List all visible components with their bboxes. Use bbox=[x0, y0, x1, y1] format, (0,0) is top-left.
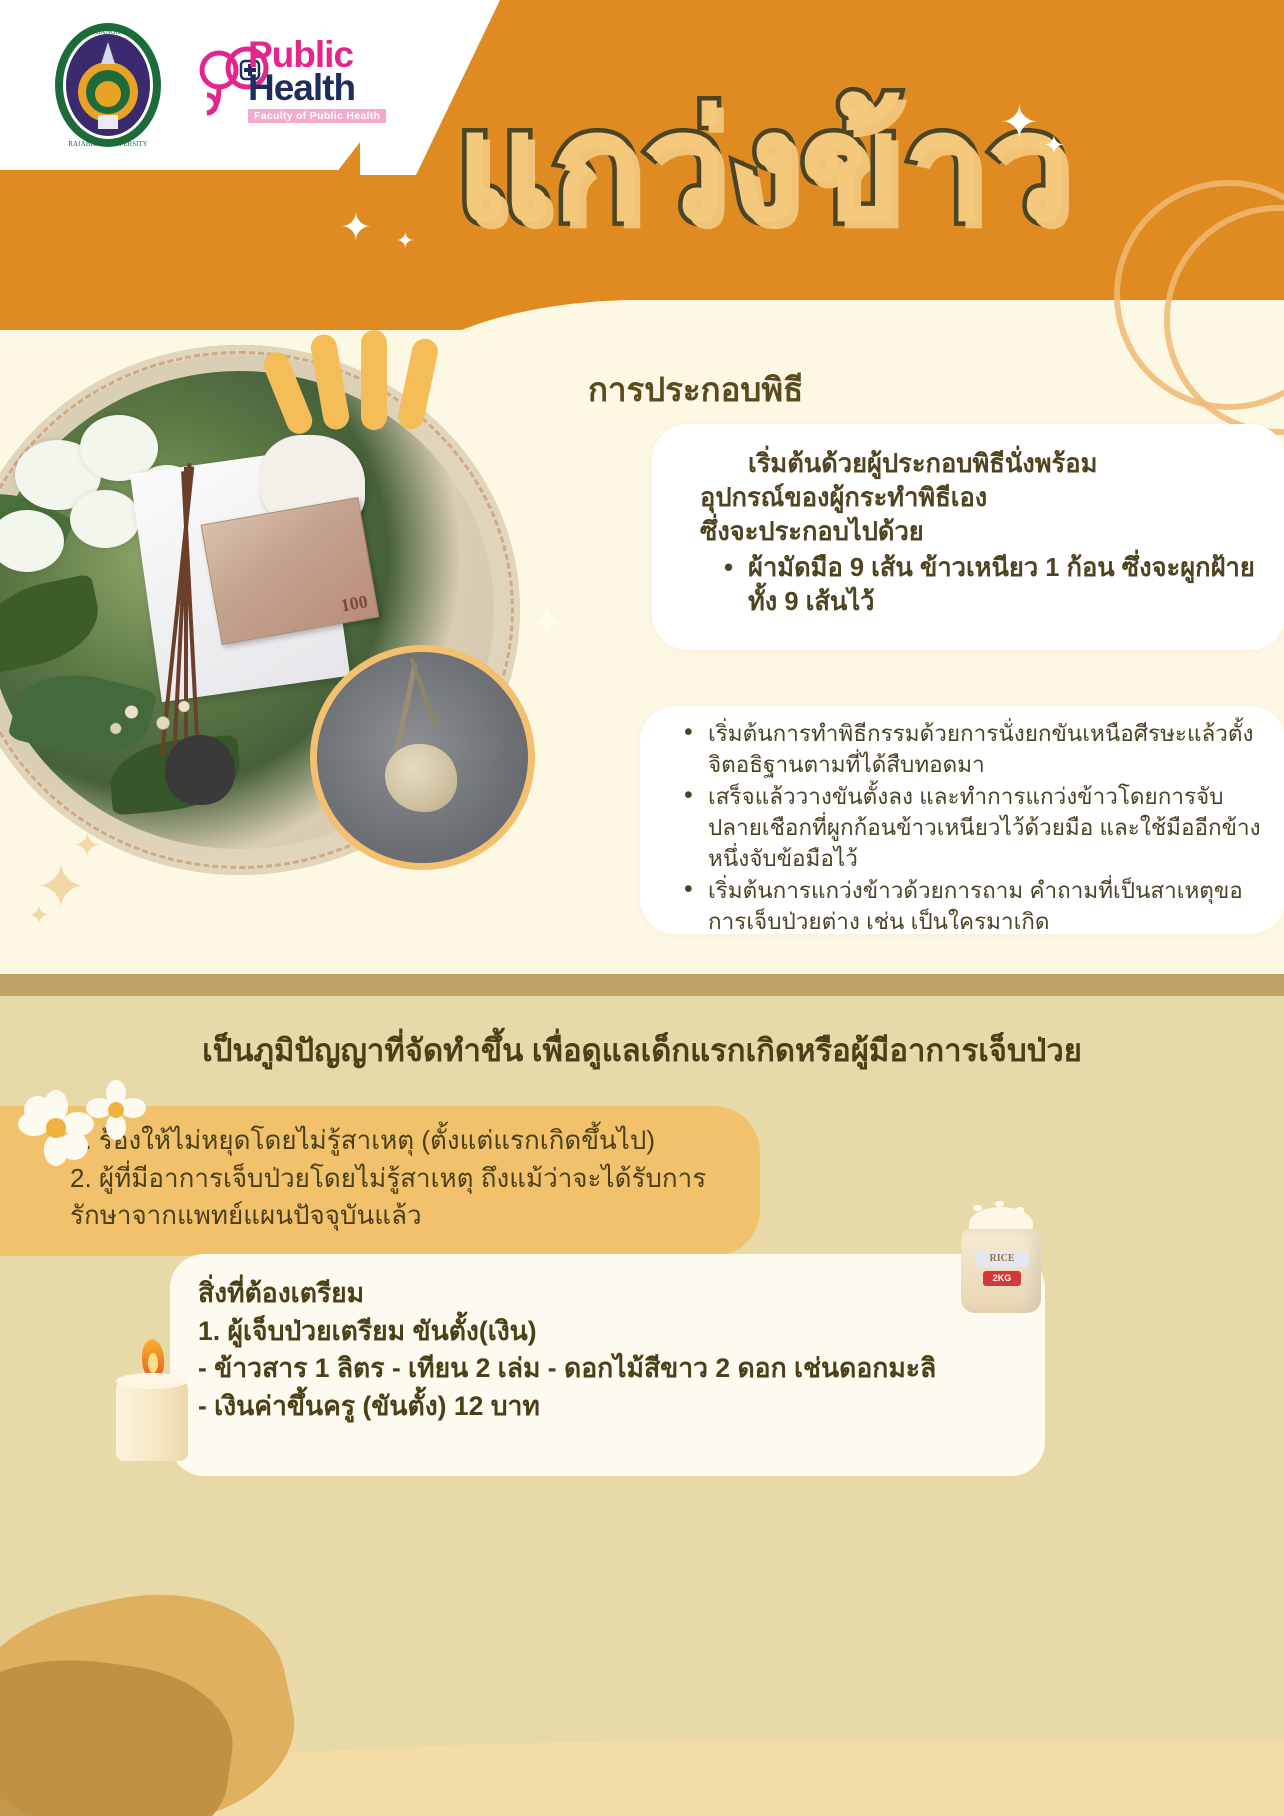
purpose-text: 1. ร้องให้ไม่หยุดโดยไม่รู้สาเหตุ (ตั้งแต… bbox=[70, 1122, 760, 1235]
university-seal-icon: CHIANGRAI RAJABHAT UNIVERSITY bbox=[52, 20, 164, 150]
purpose-item-1: 1. ร้องให้ไม่หยุดโดยไม่รู้สาเหตุ (ตั้งแต… bbox=[70, 1122, 760, 1160]
yellow-burst-decor bbox=[265, 310, 455, 450]
sparkle-icon: ✦ bbox=[340, 205, 372, 250]
list-item: ผ้ามัดมือ 9 เส้น ข้าวเหนียว 1 ก้อน ซึ่งจ… bbox=[700, 552, 1280, 620]
rice-sack-label: RICE bbox=[975, 1251, 1029, 1267]
page-title: แกว่งข้าว bbox=[455, 92, 1071, 242]
section-divider-band bbox=[0, 974, 1284, 996]
public-health-tagline: Faculty of Public Health bbox=[248, 109, 386, 123]
ceremony-intro-line-3: ซึ่งจะประกอบไปด้วย bbox=[700, 518, 924, 546]
list-item: เริ่มต้นการแกว่งข้าวด้วยการถาม คำถามที่เ… bbox=[662, 875, 1272, 937]
ceremony-heading: การประกอบพิธี bbox=[588, 363, 803, 416]
poster-root: CHIANGRAI RAJABHAT UNIVERSITY Public Hea… bbox=[0, 0, 1284, 1816]
ceremony-intro-line-2: อุปกรณ์ของผู้กระทำพิธีเอง bbox=[700, 484, 987, 512]
rice-sack-icon: RICE 2KG bbox=[955, 1205, 1047, 1313]
ceremony-steps-list: เริ่มต้นการทำพิธีกรรมด้วยการนั่งยกขันเหน… bbox=[662, 718, 1272, 937]
preparation-line-3: - เงินค่าขึ้นครู (ขันตั้ง) 12 บาท bbox=[198, 1388, 1048, 1426]
preparation-text: สิ่งที่ต้องเตรียม 1. ผู้เจ็บป่วยเตรียม ข… bbox=[198, 1275, 1048, 1426]
preparation-line-2: - ข้าวสาร 1 ลิตร - เทียน 2 เล่ม - ดอกไม้… bbox=[198, 1350, 1048, 1388]
ceremony-intro-line-1: เริ่มต้นด้วยผู้ประกอบพิธีนั่งพร้อม bbox=[700, 448, 1280, 482]
public-health-wordmark: Public Health Faculty of Public Health bbox=[248, 36, 386, 123]
daisy-flower-icon bbox=[18, 1090, 94, 1166]
ritual-offering-photo bbox=[0, 330, 560, 890]
candle-icon bbox=[100, 1335, 220, 1465]
purpose-heading: เป็นภูมิปัญญาที่จัดทำขึ้น เพื่อดูแลเด็กแ… bbox=[0, 1025, 1284, 1075]
list-item: เสร็จแล้ววางขันตั้งลง และทำการแกว่งข้าวโ… bbox=[662, 781, 1272, 874]
purpose-item-2: 2. ผู้ที่มีอาการเจ็บป่วยโดยไม่รู้สาเหตุ … bbox=[70, 1160, 760, 1235]
svg-text:RAJABHAT UNIVERSITY: RAJABHAT UNIVERSITY bbox=[68, 140, 147, 148]
list-item: เริ่มต้นการทำพิธีกรรมด้วยการนั่งยกขันเหน… bbox=[662, 718, 1272, 780]
svg-text:CHIANGRAI: CHIANGRAI bbox=[88, 28, 128, 36]
ceremony-intro-text: เริ่มต้นด้วยผู้ประกอบพิธีนั่งพร้อม อุปกร… bbox=[700, 448, 1280, 620]
public-health-line2: Health bbox=[248, 69, 386, 106]
sparkle-icon: ✦ bbox=[1000, 95, 1039, 149]
sparkle-icon: ✦ bbox=[530, 600, 564, 646]
preparation-heading: สิ่งที่ต้องเตรียม bbox=[198, 1275, 1048, 1313]
ceremony-intro-bullets: ผ้ามัดมือ 9 เส้น ข้าวเหนียว 1 ก้อน ซึ่งจ… bbox=[700, 552, 1280, 620]
ceremony-steps-text: เริ่มต้นการทำพิธีกรรมด้วยการนั่งยกขันเหน… bbox=[662, 718, 1272, 938]
sparkle-icon: ✦ bbox=[28, 900, 50, 931]
sparkle-icon: ✦ bbox=[1043, 130, 1065, 161]
rice-knot-inset-photo bbox=[310, 645, 535, 870]
preparation-line-1: 1. ผู้เจ็บป่วยเตรียม ขันตั้ง(เงิน) bbox=[198, 1313, 1048, 1351]
daisy-flower-icon bbox=[86, 1080, 146, 1140]
rice-sack-weight: 2KG bbox=[983, 1271, 1021, 1286]
sparkle-icon: ✦ bbox=[396, 228, 414, 254]
